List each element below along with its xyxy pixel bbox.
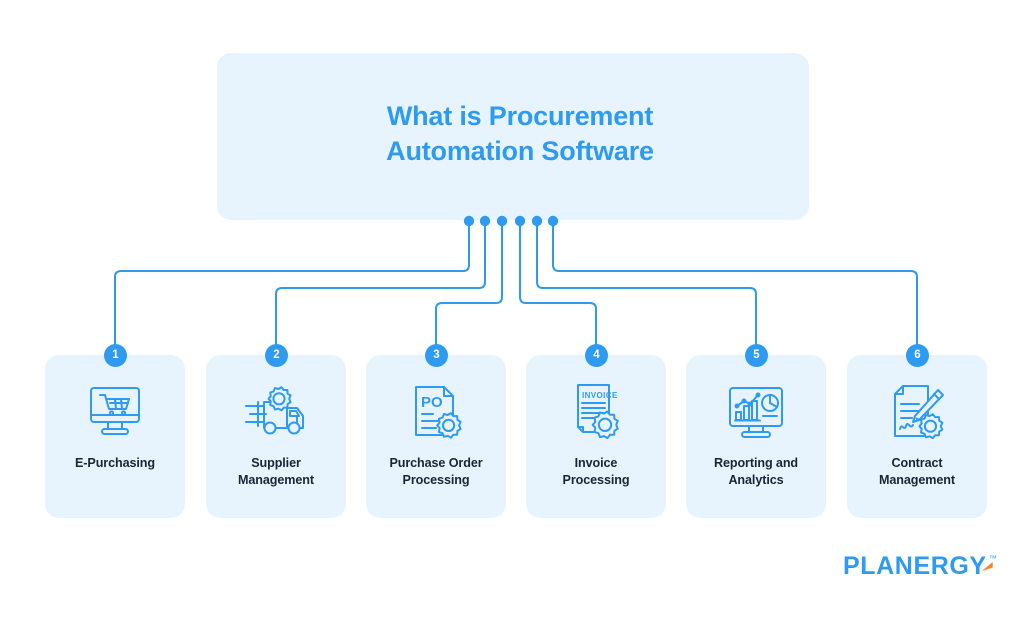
- connector-path-3: [436, 221, 502, 344]
- connector-path-1: [115, 221, 469, 344]
- delivery-truck-gear-icon: [206, 377, 346, 449]
- card-label-line-1: Purchase Order: [389, 456, 482, 470]
- invoice-document-gear-icon: INVOICE: [526, 377, 666, 449]
- card-reporting-analytics[interactable]: Reporting and Analytics: [686, 355, 826, 518]
- purchase-order-document-gear-icon: PO: [366, 377, 506, 449]
- card-label-line-1: Reporting and: [714, 456, 798, 470]
- card-supplier-management[interactable]: Supplier Management: [206, 355, 346, 518]
- connector-path-4: [520, 221, 596, 344]
- badge-3: 3: [425, 344, 448, 367]
- badge-1: 1: [104, 344, 127, 367]
- connector-path-5: [537, 221, 756, 344]
- monitor-analytics-charts-icon: [686, 377, 826, 449]
- card-purchase-order-processing[interactable]: PO Purchase Order Processing: [366, 355, 506, 518]
- card-label-line-2: Processing: [372, 472, 500, 489]
- card-label-line-1: Invoice: [575, 456, 618, 470]
- card-label-line-2: Management: [853, 472, 981, 489]
- badge-2: 2: [265, 344, 288, 367]
- connector-path-2: [276, 221, 485, 344]
- card-label-line-2: Management: [212, 472, 340, 489]
- card-label-invoice-processing: Invoice Processing: [532, 455, 660, 489]
- infographic-root: What is Procurement Automation Software: [0, 0, 1024, 625]
- page-title-line-1: What is Procurement: [217, 99, 809, 134]
- badge-5: 5: [745, 344, 768, 367]
- card-label-e-purchasing: E-Purchasing: [51, 455, 179, 472]
- card-invoice-processing[interactable]: INVOICE Invoice Processing: [526, 355, 666, 518]
- badge-6: 6: [906, 344, 929, 367]
- header-panel: What is Procurement Automation Software: [217, 53, 809, 220]
- contract-pen-gear-icon: [847, 377, 987, 449]
- planergy-logo: PLANERGY ™: [843, 553, 997, 579]
- card-label-purchase-order-processing: Purchase Order Processing: [372, 455, 500, 489]
- page-title-line-2: Automation Software: [217, 134, 809, 169]
- logo-trademark: ™: [989, 554, 997, 564]
- card-label-line-2: Analytics: [692, 472, 820, 489]
- card-e-purchasing[interactable]: E-Purchasing: [45, 355, 185, 518]
- card-label-contract-management: Contract Management: [853, 455, 981, 489]
- svg-text:PO: PO: [421, 394, 443, 411]
- connector-path-6: [553, 221, 917, 344]
- card-label-line-2: Processing: [532, 472, 660, 489]
- svg-text:INVOICE: INVOICE: [582, 391, 618, 400]
- badge-4: 4: [585, 344, 608, 367]
- planergy-wordmark: PLANERGY: [843, 553, 987, 579]
- card-label-line-1: Contract: [892, 456, 943, 470]
- card-label-supplier-management: Supplier Management: [212, 455, 340, 489]
- monitor-shopping-cart-icon: [45, 377, 185, 449]
- card-label-line-1: E-Purchasing: [75, 456, 155, 470]
- page-title: What is Procurement Automation Software: [217, 53, 809, 220]
- card-contract-management[interactable]: Contract Management: [847, 355, 987, 518]
- card-label-reporting-analytics: Reporting and Analytics: [692, 455, 820, 489]
- card-label-line-1: Supplier: [251, 456, 301, 470]
